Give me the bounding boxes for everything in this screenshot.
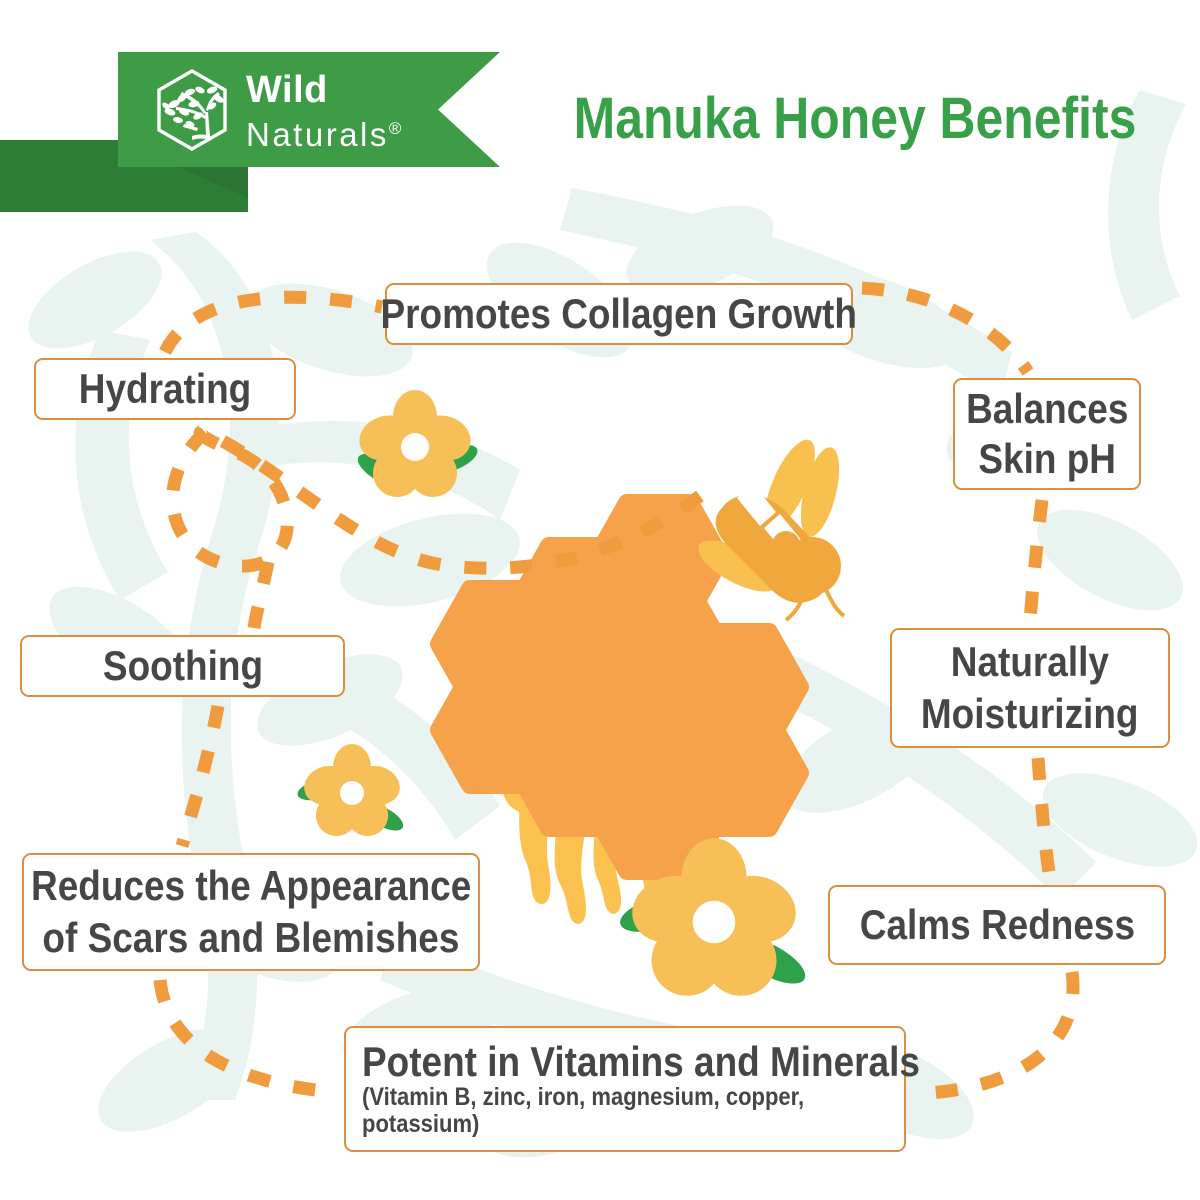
benefit-box-reduces-scars-and-blemishes[interactable]: Reduces the Appearance of Scars and Blem… [22, 853, 480, 971]
connector-scars-to-potent [160, 980, 334, 1092]
benefit-label-line: Balances [966, 384, 1128, 434]
connector-moisturizing-to-calms [1038, 758, 1050, 878]
benefit-box-balances-skin-ph[interactable]: Balances Skin pH [953, 378, 1141, 490]
benefit-label-line: Calms Redness [859, 903, 1134, 947]
benefit-label-line: Soothing [102, 644, 262, 688]
infographic-canvas: Wild Naturals® Manuka Honey Benefits [0, 0, 1200, 1200]
connector-calms-to-potent [914, 972, 1073, 1094]
benefit-box-promotes-collagen-growth[interactable]: Promotes Collagen Growth [385, 283, 853, 345]
benefit-label-line: of Scars and Blemishes [43, 912, 460, 964]
benefit-label-line: Hydrating [79, 367, 251, 411]
benefit-box-calms-redness[interactable]: Calms Redness [828, 885, 1166, 965]
dashed-path-connectors [0, 0, 1200, 1200]
connector-collagen-to-ph [862, 288, 1028, 372]
connector-soothing-to-scars [182, 706, 218, 846]
benefit-label-line: Reduces the Appearance [31, 860, 471, 912]
benefit-label-line: Naturally [951, 636, 1109, 688]
connector-hydrating-loop [173, 432, 700, 569]
benefit-box-hydrating[interactable]: Hydrating [34, 358, 296, 420]
benefit-sublabel-line: (Vitamin B, zinc, iron, magnesium, coppe… [362, 1084, 804, 1111]
benefit-box-soothing[interactable]: Soothing [20, 635, 345, 697]
connector-hydrating-to-collagen [165, 297, 382, 352]
connector-ph-to-moisturizing [1030, 500, 1042, 620]
benefit-label-line: Promotes Collagen Growth [381, 292, 857, 336]
benefit-box-potent-in-vitamins-and-minerals[interactable]: Potent in Vitamins and Minerals (Vitamin… [344, 1026, 906, 1152]
benefit-sublabel-line: potassium) [362, 1111, 479, 1138]
benefit-label-line: Potent in Vitamins and Minerals [362, 1040, 920, 1084]
benefit-box-naturally-moisturizing[interactable]: Naturally Moisturizing [890, 628, 1170, 748]
benefit-label-line: Moisturizing [921, 688, 1139, 740]
connector-loop-to-soothing [254, 562, 268, 628]
benefit-label-line: Skin pH [978, 434, 1116, 484]
